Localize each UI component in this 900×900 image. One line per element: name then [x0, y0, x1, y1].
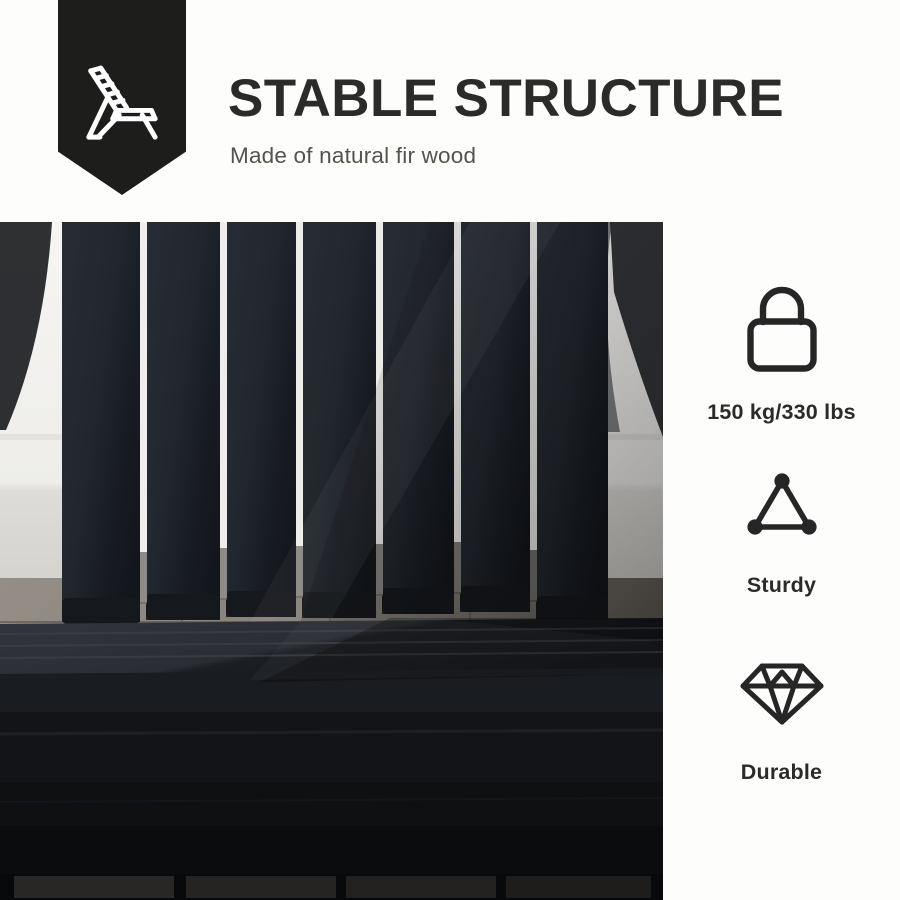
- product-photo: [0, 222, 663, 900]
- feature-item-weight-capacity: 150 kg/330 lbs: [663, 282, 900, 425]
- feature-label-sturdy: Sturdy: [663, 573, 900, 598]
- badge-banner: [58, 0, 186, 195]
- feature-label-durable: Durable: [663, 760, 900, 785]
- header: STABLE STRUCTURE Made of natural fir woo…: [0, 0, 900, 216]
- deck-chair-icon: [76, 58, 168, 150]
- feature-item-sturdy: Sturdy: [663, 465, 900, 598]
- page-subtitle: Made of natural fir wood: [230, 143, 878, 169]
- diamond-gem-icon: [737, 652, 827, 730]
- feature-list: 150 kg/330 lbs Sturdy Durable: [663, 222, 900, 900]
- feature-item-durable: Durable: [663, 652, 900, 785]
- title-block: STABLE STRUCTURE Made of natural fir woo…: [228, 72, 878, 169]
- padlock-icon: [737, 282, 827, 374]
- feature-label-weight-capacity: 150 kg/330 lbs: [663, 400, 900, 425]
- infographic-page: STABLE STRUCTURE Made of natural fir woo…: [0, 0, 900, 900]
- page-title: STABLE STRUCTURE: [228, 72, 878, 125]
- product-photo-image: [0, 222, 663, 900]
- triangle-nodes-icon: [737, 465, 827, 545]
